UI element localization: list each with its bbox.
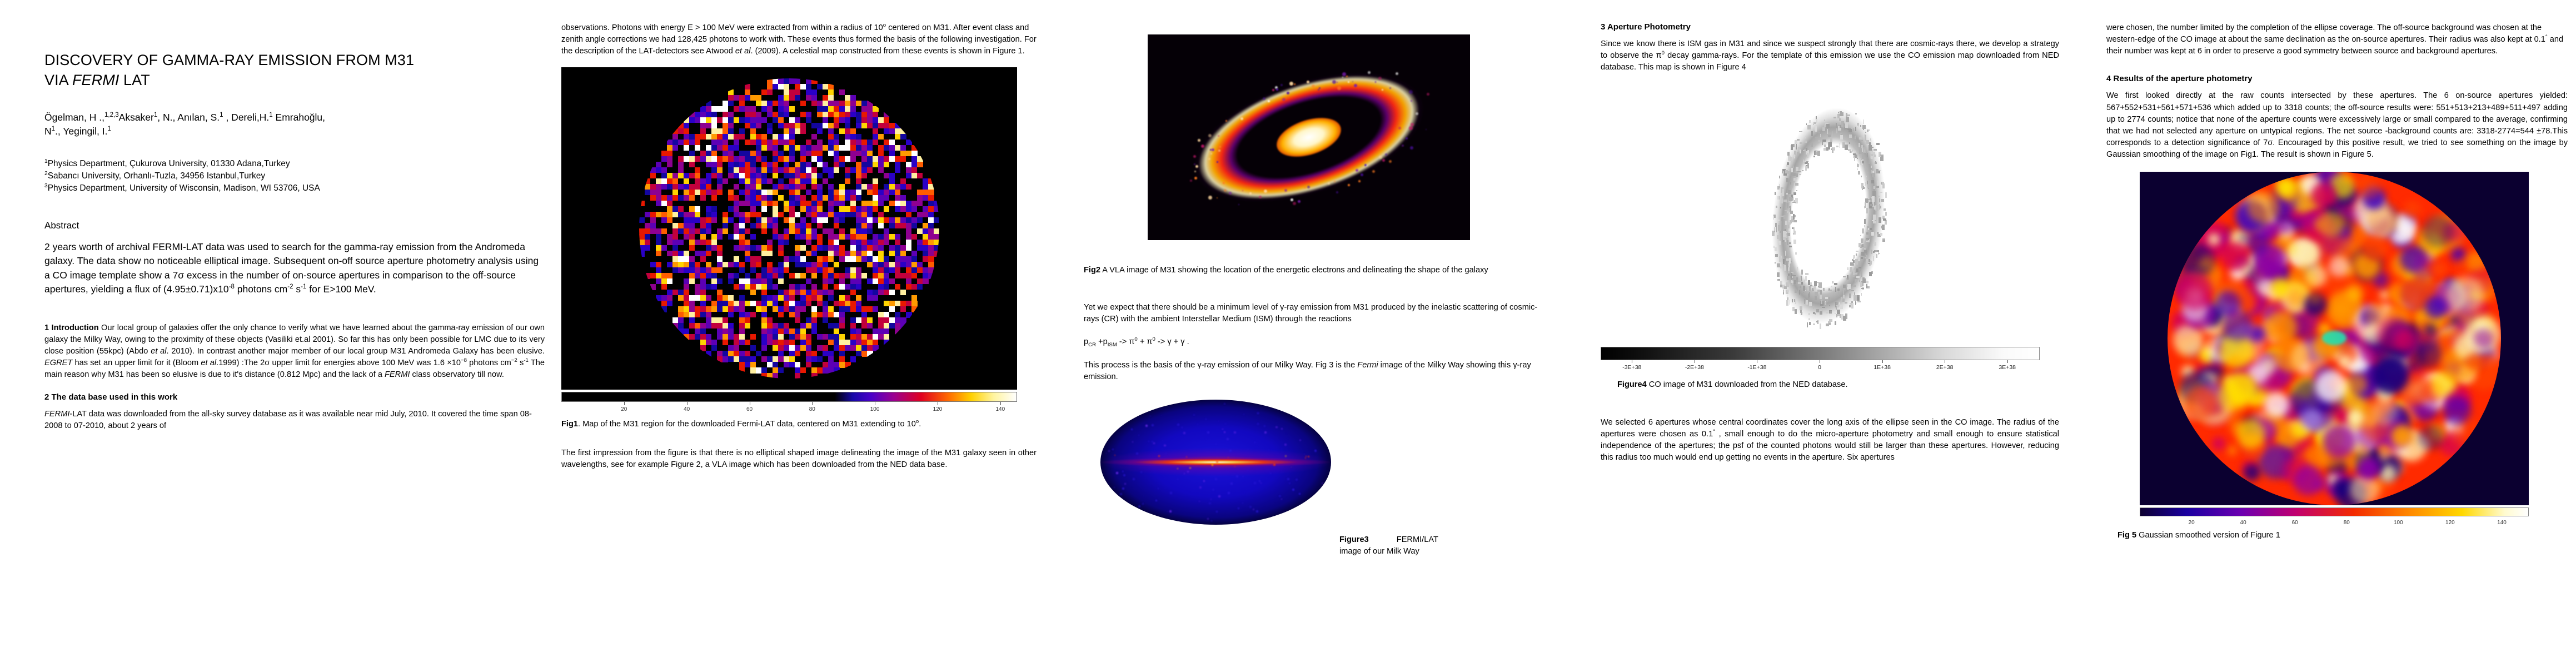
col3-milkyway-paragraph: This process is the basis of the γ-ray e…: [1084, 360, 1545, 383]
figure-4-caption-text: CO image of M31 downloaded from the NED …: [1647, 380, 1848, 389]
introduction-paragraph: 1 Introduction Our local group of galaxi…: [44, 322, 545, 381]
abstract-text-c: s: [293, 283, 301, 295]
figure-2-caption: Fig2 A VLA image of M31 showing the loca…: [1084, 265, 1545, 276]
column-3: Fig2 A VLA image of M31 showing the loca…: [1084, 0, 1545, 667]
eq-sub-ism: ISM: [1108, 342, 1117, 348]
col3-cr-ism-paragraph: Yet we expect that there should be a min…: [1084, 302, 1545, 325]
column-4: 3 Aperture Photometry Since we know ther…: [1601, 0, 2059, 667]
author-yegingil: ., Yegingil, I.: [55, 126, 107, 137]
results-cont-a: were chosen, the number limited by the c…: [2106, 23, 2545, 44]
colorbar-tick-label: 40: [2240, 520, 2246, 526]
col2-observations-paragraph: observations. Photons with energy E > 10…: [561, 22, 1037, 57]
section-heading-aperture-photometry: 3 Aperture Photometry: [1601, 22, 2059, 32]
figure-3-caption-line2: image of our Milk Way: [1339, 546, 1484, 558]
affiliation-text: Physics Department, University of Wiscon…: [48, 183, 320, 193]
section-heading-database: 2 The data base used in this work: [44, 392, 545, 402]
figure-3-label: Figure3: [1339, 535, 1369, 544]
intro-ital-egret: EGRET: [44, 359, 72, 367]
colorbar-tick-label: -2E+38: [1685, 364, 1704, 371]
col3-text-1: Yet we expect that there should be a min…: [1084, 303, 1537, 323]
figure-5-caption-text: Gaussian smoothed version of Figure 1: [2136, 531, 2280, 540]
intro-text-e: photons cm: [467, 359, 511, 367]
intro-text-b: . 2010). In contrast another major membe…: [167, 347, 545, 356]
colorbar-tick-label: 60: [2292, 520, 2298, 526]
figure-4-caption: Figure4 CO image of M31 downloaded from …: [1617, 379, 2059, 391]
eq-p-cr: p: [1084, 337, 1088, 346]
title-line-2-prefix: VIA: [44, 72, 72, 88]
colorbar-tick-label: 3E+38: [1999, 364, 2016, 371]
figure-1-container: 20406080100120140: [561, 67, 1017, 416]
author-emrahoglu: Emrahoğlu,: [273, 112, 325, 123]
abstract-text-b: photons cm: [235, 283, 287, 295]
title-fermi-italic: FERMI: [72, 72, 119, 88]
colorbar-tick-label: 0: [1818, 364, 1821, 371]
figure-2-caption-text: A VLA image of M31 showing the location …: [1100, 266, 1488, 275]
author-dereli: , Dereli,H.: [223, 112, 270, 123]
abstract-text-d: for E>100 MeV.: [306, 283, 376, 295]
intro-ital-fermi: FERMI: [385, 370, 410, 379]
colorbar-tick-label: 140: [995, 406, 1005, 412]
poster-page: DISCOVERY OF GAMMA-RAY EMISSION FROM M31…: [0, 0, 2576, 667]
reaction-equation: pCR +pISM -> π0 + π0 -> γ + γ .: [1084, 336, 1545, 348]
colorbar-tick-label: 120: [2445, 520, 2455, 526]
figure-1-colorbar-ticks: 20406080100120140: [561, 402, 1016, 416]
colorbar-tick-label: 2E+38: [1936, 364, 1954, 371]
figure-5-colorbar: [2140, 507, 2529, 516]
figure-4-label: Figure4: [1617, 380, 1647, 389]
database-ital-fermi: FERMI: [44, 410, 69, 419]
figure-2-vla-image: [1148, 34, 1470, 240]
intro-sup-exp: −8: [461, 357, 467, 364]
col3-text-2a: This process is the basis of the γ-ray e…: [1084, 361, 1357, 370]
intro-text-c: has set an upper limit for it (Bloom: [72, 359, 201, 367]
database-paragraph: FERMI-LAT data was downloaded from the a…: [44, 409, 545, 432]
author-ogelman: Ögelman, H .,: [44, 112, 104, 123]
intro-text-h: class observatory till now.: [410, 370, 504, 379]
intro-ital-3: et al: [201, 359, 216, 367]
intro-text-f: s: [517, 359, 524, 367]
figure-5-caption: Fig 5 Gaussian smoothed version of Figur…: [2117, 530, 2568, 541]
affiliation-list: 1Physics Department, Çukurova University…: [44, 158, 545, 195]
figure-3-caption: Figure3 FERMI/LAT image of our Milk Way: [1339, 534, 1484, 558]
column-1: DISCOVERY OF GAMMA-RAY EMISSION FROM M31…: [44, 0, 545, 667]
figure-5-colorbar-ticks: 20406080100120140: [2140, 516, 2528, 529]
col3-ital-fermi: Fermi: [1357, 361, 1378, 370]
colorbar-tick-label: 40: [684, 406, 690, 412]
results-paragraph: We first looked directly at the raw coun…: [2106, 90, 2568, 161]
figure-1-colorbar: [561, 392, 1017, 402]
affiliation-item: 1Physics Department, Çukurova University…: [44, 158, 545, 170]
figure-1-disc: [639, 78, 939, 379]
figure-1-caption: Fig1. Map of the M31 region for the down…: [561, 419, 1037, 430]
colorbar-tick-label: 20: [2189, 520, 2195, 526]
colorbar-tick-label: 100: [2394, 520, 2403, 526]
abstract-sup-exp: -8: [229, 283, 235, 290]
figure-5-gaussian-smoothed: [2140, 172, 2529, 505]
aperture-photometry-paragraph: Since we know there is ISM gas in M31 an…: [1601, 38, 2059, 73]
col2-text-c: . (2009). A celestial map constructed fr…: [750, 47, 1024, 56]
section-heading-introduction: 1 Introduction: [44, 323, 99, 332]
figure-3-caption-right: FERMI/LAT: [1397, 535, 1438, 544]
figure-4-colorbar: [1601, 347, 2040, 360]
author-line2-a: N: [44, 126, 52, 137]
colorbar-tick-label: 20: [621, 406, 627, 412]
col2-fig1-discussion: The first impression from the figure is …: [561, 447, 1037, 471]
figure-1-caption-a: . Map of the M31 region for the download…: [578, 420, 916, 429]
results-continuation-paragraph: were chosen, the number limited by the c…: [2106, 22, 2568, 57]
colorbar-tick-label: 100: [870, 406, 880, 412]
intro-sup-s1: -1: [524, 357, 529, 364]
abstract-heading: Abstract: [44, 220, 545, 231]
colorbar-tick-label: -3E+38: [1622, 364, 1641, 371]
col2-ital-etal: et al: [735, 47, 751, 56]
title-line-1: DISCOVERY OF GAMMA-RAY EMISSION FROM M31: [44, 52, 414, 68]
eq-arrow-1: -> π: [1117, 337, 1135, 346]
figure-2-label: Fig2: [1084, 266, 1100, 275]
title-line-2-suffix: LAT: [119, 72, 150, 88]
colorbar-tick-label: 80: [2344, 520, 2350, 526]
column-5: were chosen, the number limited by the c…: [2106, 0, 2568, 667]
results-text: We first looked directly at the raw coun…: [2106, 91, 2568, 159]
affiliation-text: Sabancı University, Orhanlı-Tuzla, 34956…: [48, 171, 265, 181]
page-title: DISCOVERY OF GAMMA-RAY EMISSION FROM M31…: [44, 50, 545, 91]
aperture-selection-paragraph: We selected 6 apertures whose central co…: [1601, 417, 2059, 464]
col2-after-fig1-text: The first impression from the figure is …: [561, 449, 1037, 469]
abstract-sup-cm2: -2: [287, 283, 293, 290]
column-2: observations. Photons with energy E > 10…: [561, 0, 1037, 667]
figure-1-label: Fig1: [561, 420, 578, 429]
colorbar-tick-label: 1E+38: [1874, 364, 1891, 371]
figure-1-lat-count-map: [561, 67, 1017, 390]
figure-3-milky-way-allsky: [1100, 400, 1331, 525]
figure-5-disc: [2168, 172, 2501, 505]
section-heading-results: 4 Results of the aperture photometry: [2106, 74, 2568, 83]
intro-sup-cm2: −2: [511, 357, 517, 364]
author-sup-6: 1: [107, 126, 111, 132]
figure-4-co-map: [1709, 88, 1948, 344]
figure-5-label: Fig 5: [2117, 531, 2136, 540]
figure-1-colorbar-container: 20406080100120140: [561, 392, 1017, 416]
colorbar-tick-label: 120: [933, 406, 943, 412]
figure-4-colorbar-container: -3E+38-2E+38-1E+3801E+382E+383E+38: [1601, 347, 2040, 374]
intro-ital-1: et al: [151, 347, 166, 356]
author-aksaker: Aksaker: [119, 112, 154, 123]
author-list: Ögelman, H .,1,2,3Aksaker1, N., Anılan, …: [44, 111, 545, 139]
affiliation-item: 2Sabancı University, Orhanlı-Tuzla, 3495…: [44, 170, 545, 182]
eq-plus-p: +p: [1096, 337, 1108, 346]
eq-arrow-2: -> γ + γ .: [1155, 337, 1189, 346]
author-sup-1: 1,2,3: [104, 112, 119, 118]
colorbar-tick-label: -1E+38: [1747, 364, 1766, 371]
affiliation-item: 3Physics Department, University of Wisco…: [44, 182, 545, 195]
aperture-text-b: decay gamma-rays. For the template of th…: [1601, 51, 2059, 72]
abstract-paragraph: 2 years worth of archival FERMI-LAT data…: [44, 240, 545, 297]
figure-5-colorbar-container: 20406080100120140: [2140, 507, 2529, 529]
colorbar-tick-label: 60: [746, 406, 753, 412]
abstract-sup-s1: -1: [301, 283, 306, 290]
col2-text-a: observations. Photons with energy E > 10…: [561, 23, 883, 32]
colorbar-tick-label: 80: [809, 406, 815, 412]
intro-text-d: .1999) :The 2σ upper limit for energies …: [216, 359, 461, 367]
figure-1-pixel-noise: [639, 78, 939, 379]
eq-middle: + π: [1138, 337, 1153, 346]
author-anilan: , N., Anılan, S.: [157, 112, 220, 123]
eq-sub-cr: CR: [1088, 342, 1096, 348]
figure-1-caption-b: .: [919, 420, 921, 429]
database-text: -LAT data was downloaded from the all-sk…: [44, 410, 532, 430]
figure-4-colorbar-ticks: -3E+38-2E+38-1E+3801E+382E+383E+38: [1601, 360, 2039, 374]
affiliation-text: Physics Department, Çukurova University,…: [48, 159, 290, 168]
colorbar-tick-label: 140: [2497, 520, 2507, 526]
